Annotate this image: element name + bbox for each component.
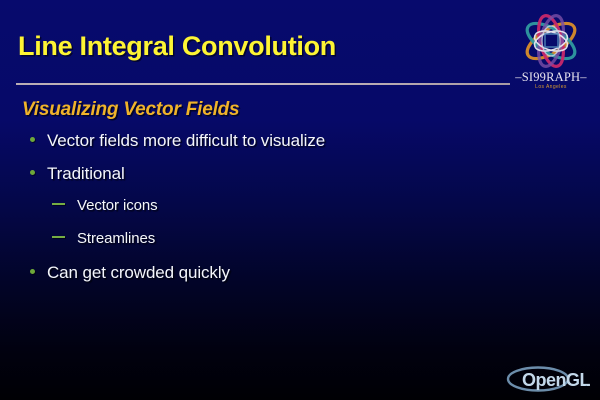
list-item: Vector fields more difficult to visualiz… xyxy=(0,131,520,164)
bullet-list: Vector fields more difficult to visualiz… xyxy=(0,131,520,296)
page-title: Line Integral Convolution xyxy=(18,31,336,62)
list-item: Streamlines xyxy=(0,230,520,263)
bullet-dot-icon xyxy=(30,170,35,175)
slide-subtitle: Visualizing Vector Fields xyxy=(22,99,239,121)
list-item-label: Traditional xyxy=(47,164,125,184)
list-item: Can get crowded quickly xyxy=(0,263,520,296)
list-item-label: Vector fields more difficult to visualiz… xyxy=(47,131,325,151)
list-item: Vector icons xyxy=(0,197,520,230)
svg-text:.: . xyxy=(585,378,588,388)
title-divider xyxy=(16,83,510,85)
siggraph-rings-icon xyxy=(508,8,594,74)
list-item-label: Vector icons xyxy=(77,197,158,214)
opengl-logo-icon: OpenGL . xyxy=(505,365,593,393)
bullet-dot-icon xyxy=(30,269,35,274)
slide-canvas: Line Integral Convolution Visualizing Ve… xyxy=(0,0,600,400)
bullet-dot-icon xyxy=(30,137,35,142)
bullet-dash-icon xyxy=(52,203,65,205)
list-item: Traditional xyxy=(0,164,520,197)
bullet-dash-icon xyxy=(52,236,65,238)
siggraph-city-label: Los Angeles xyxy=(508,84,594,90)
svg-text:OpenGL: OpenGL xyxy=(522,370,591,390)
opengl-logo: OpenGL . xyxy=(505,365,593,393)
list-item-label: Can get crowded quickly xyxy=(47,263,230,283)
siggraph-wordmark: –SI99RAPH– xyxy=(508,70,594,85)
list-item-label: Streamlines xyxy=(77,230,155,247)
siggraph-logo: –SI99RAPH– Los Angeles xyxy=(508,8,594,100)
